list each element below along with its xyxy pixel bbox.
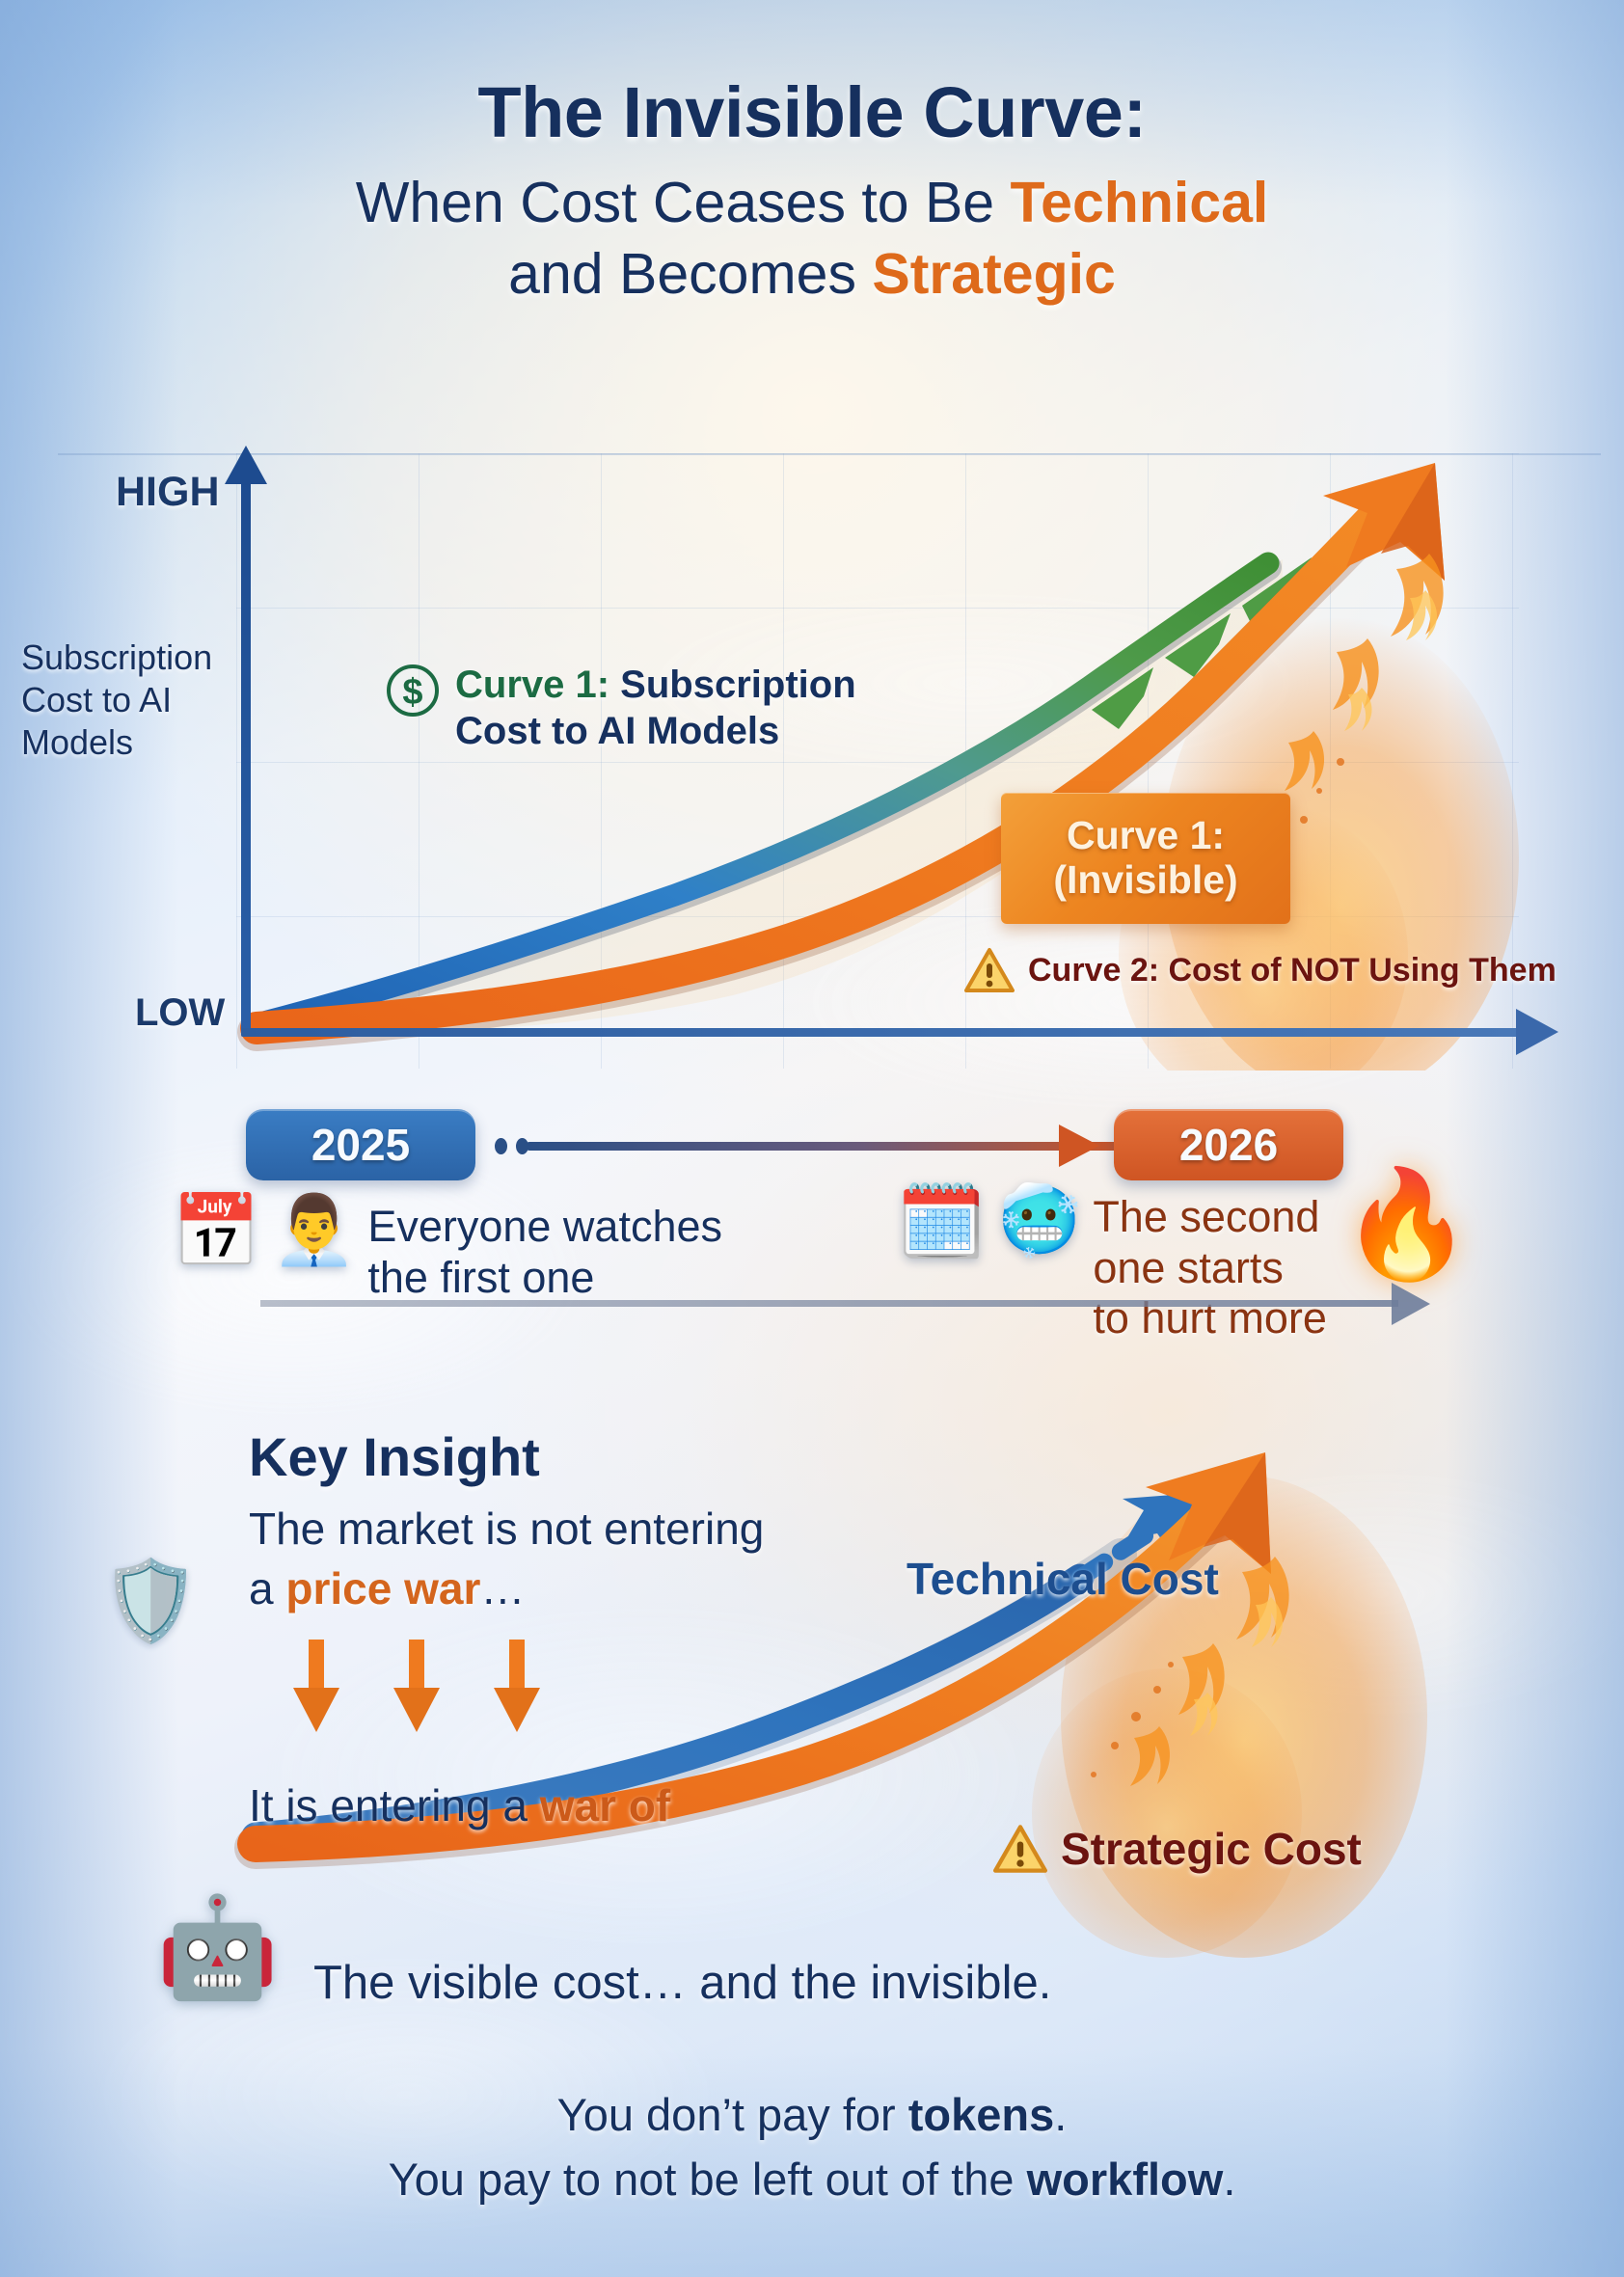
footer-workflow: workflow [1027,2154,1224,2205]
timeline-connector [526,1142,1133,1151]
key-insight-price-war: price war [285,1563,480,1613]
footer-line-1: You don’t pay for tokens. [0,2083,1624,2148]
technical-cost-label: Technical Cost [907,1553,1219,1605]
down-arrow-icon-3 [490,1640,544,1736]
warning-triangle-icon-2 [993,1824,1047,1874]
key-insight-line-3-plain: It is entering a [249,1780,540,1830]
title-line-3: and Becomes Strategic [0,239,1624,311]
curve1-badge-line2: (Invisible) [1053,858,1237,903]
note-2025-text: Everyone watches the first one [367,1196,722,1303]
x-axis-arrowhead-icon [1516,1009,1558,1055]
curve1-legend-line2: Cost to AI Models [455,710,779,752]
note-2026-line2: one starts [1093,1243,1284,1292]
footer-line-2-plain: You pay to not be left out of the [389,2154,1027,2205]
y-axis-low-label: LOW [135,991,225,1035]
poster-title: The Invisible Curve: When Cost Ceases to… [0,77,1624,311]
y-axis-arrowhead-icon [225,446,267,484]
footer-line-2-end: . [1223,2154,1235,2205]
key-insight-war-of: war of [540,1780,670,1830]
calendar-2025-icon: 📅 [172,1196,260,1267]
brain-shield-icon: 🛡️ [101,1562,200,1641]
curve1-badge-line1: Curve 1: [1067,814,1225,858]
curve1-invisible-badge: Curve 1: (Invisible) [1001,793,1290,924]
top-chart: HIGH LOW Subscription Cost to AI Models … [0,453,1624,1071]
footer-line-1-end: . [1054,2089,1067,2140]
timeline-dot-1 [495,1138,507,1154]
strategic-cost-label: Strategic Cost [1061,1823,1362,1875]
flame-icon: 🔥 [1340,1172,1473,1278]
strategic-cost-label-group: Strategic Cost [993,1823,1362,1875]
note-2025-line1: Everyone watches [367,1202,722,1251]
title-line-3-highlight: Strategic [872,242,1115,306]
curve2-legend-text: Curve 2: Cost of NOT Using Them [1028,952,1556,989]
bottom-caption: The visible cost… and the invisible. [313,1956,1051,2010]
curve1-legend-rest: Subscription [609,664,856,706]
bottom-x-axis-line [260,1300,1398,1307]
key-insight-line-2-a: a [249,1563,285,1613]
down-arrow-icon-2 [390,1640,444,1736]
key-insight-line-2: a price war… [249,1562,525,1614]
title-line-2: When Cost Ceases to Be Technical [0,168,1624,239]
y-axis-line [241,476,251,1036]
curve1-legend-text: Curve 1: Subscription Cost to AI Models [455,662,856,754]
key-insight-line-3: It is entering a war of [249,1779,670,1831]
note-2025-line2: the first one [367,1253,594,1302]
dollar-coin-icon: $ [384,662,442,719]
down-arrow-icon-1 [289,1640,343,1736]
y-axis-high-label: HIGH [116,469,220,516]
curve2-legend: Curve 2: Cost of NOT Using Them [964,947,1556,993]
bottom-x-axis-arrowhead-icon [1392,1283,1430,1325]
infographic-poster: The Invisible Curve: When Cost Ceases to… [0,0,1624,2277]
x-axis-line [241,1028,1524,1037]
footer-line-2: You pay to not be left out of the workfl… [0,2148,1624,2212]
title-line-2-highlight: Technical [1011,171,1269,234]
curve1-legend-prefix: Curve 1: [455,664,609,706]
robot-icon: 🤖 [156,1898,279,1996]
note-2026-line1: The second [1093,1192,1319,1241]
y-axis-title: Subscription Cost to AI Models [21,637,238,764]
poster-footer: You don’t pay for tokens. You pay to not… [0,2083,1624,2211]
title-line-1: The Invisible Curve: [0,77,1624,149]
warning-triangle-icon [964,947,1015,993]
svg-text:$: $ [402,672,422,713]
note-2025: 📅 👨‍💼 Everyone watches the first one [172,1196,722,1303]
down-arrow-group [289,1640,544,1736]
calendar-2026-icon: 🗓️ [897,1186,986,1258]
footer-tokens: tokens [908,2089,1055,2140]
timeline-arrowhead-icon [1059,1125,1099,1167]
note-2026: 🗓️ 🥶 The second one starts to hurt more [897,1186,1327,1344]
person-watching-icon: 👨‍💼 [272,1196,356,1263]
curve1-legend: $ Curve 1: Subscription Cost to AI Model… [384,662,856,754]
note-2026-text: The second one starts to hurt more [1093,1186,1327,1344]
year-badge-2026: 2026 [1114,1109,1343,1180]
footer-line-1-plain: You don’t pay for [557,2089,908,2140]
key-insight-line-1: The market is not entering [249,1503,764,1555]
year-badge-2025: 2025 [246,1109,475,1180]
key-insight-line-2-b: … [480,1563,525,1613]
person-cold-icon: 🥶 [997,1186,1081,1254]
key-insight-heading: Key Insight [249,1425,540,1488]
title-line-2-plain: When Cost Ceases to Be [356,171,1011,234]
title-line-3-plain: and Becomes [508,242,872,306]
